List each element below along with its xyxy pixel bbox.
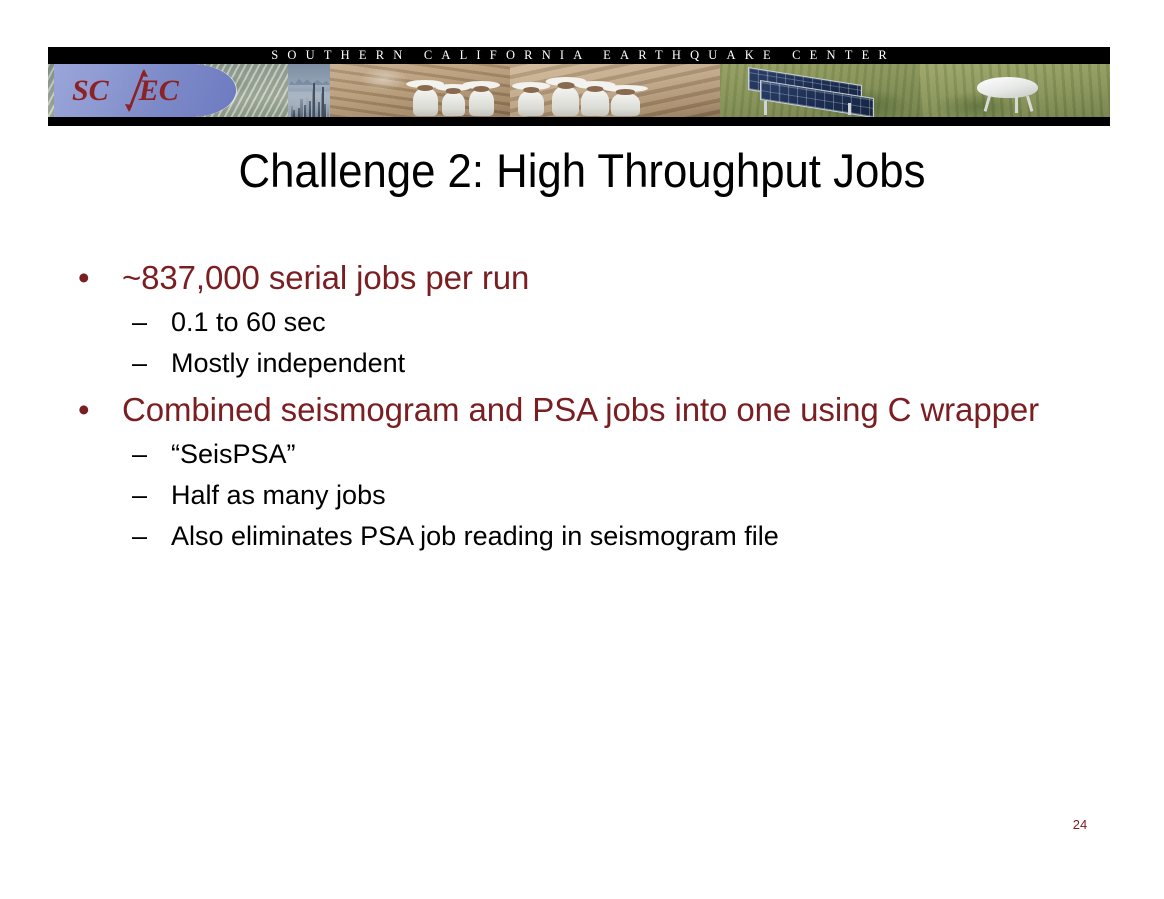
- page-number: 24: [1060, 818, 1100, 831]
- bullet-marker: –: [132, 347, 158, 380]
- bullet-level2: – Mostly independent: [0, 347, 1164, 380]
- bullet-marker: –: [132, 306, 158, 339]
- banner-title-bar: SOUTHERN CALIFORNIA EARTHQUAKE CENTER: [48, 47, 1110, 64]
- bullet-text: “SeisPSA”: [171, 439, 296, 469]
- field-researchers-photo: [330, 64, 510, 117]
- page-title: Challenge 2: High Throughput Jobs: [97, 146, 1068, 196]
- bullet-text: Combined seismogram and PSA jobs into on…: [122, 391, 1039, 428]
- bullet-marker: –: [132, 438, 158, 471]
- bullet-level1: • ~837,000 serial jobs per run: [0, 258, 1164, 298]
- los-angeles-skyline-photo: [288, 64, 330, 117]
- bullet-level2: – Half as many jobs: [0, 479, 1164, 512]
- bullet-level2: – Also eliminates PSA job reading in sei…: [0, 520, 1164, 553]
- scec-banner: SOUTHERN CALIFORNIA EARTHQUAKE CENTER: [48, 47, 1110, 126]
- slide-body: • ~837,000 serial jobs per run – 0.1 to …: [0, 258, 1164, 555]
- solar-panel-station-photo: [720, 64, 920, 117]
- bullet-marker: –: [132, 479, 158, 512]
- bullet-level2: – 0.1 to 60 sec: [0, 306, 1164, 339]
- scec-logo-text: SC EC: [72, 76, 179, 106]
- bullet-marker: –: [132, 520, 158, 553]
- bullet-text: Mostly independent: [171, 348, 405, 378]
- bullet-text: Half as many jobs: [171, 480, 386, 510]
- bullet-marker: •: [78, 258, 98, 298]
- gps-dome-antenna-photo: [920, 64, 1110, 117]
- banner-bottom-bar: [48, 117, 1110, 126]
- trench-team-photo: [510, 64, 720, 117]
- scec-logo: SC EC: [54, 64, 236, 117]
- scec-logo-ec: EC: [139, 74, 179, 107]
- bullet-text: 0.1 to 60 sec: [171, 307, 326, 337]
- slide-canvas: SOUTHERN CALIFORNIA EARTHQUAKE CENTER: [0, 0, 1164, 899]
- banner-title-text: SOUTHERN CALIFORNIA EARTHQUAKE CENTER: [262, 49, 896, 62]
- bullet-level2: – “SeisPSA”: [0, 438, 1164, 471]
- scec-logo-sc: SC: [72, 74, 109, 107]
- bullet-text: ~837,000 serial jobs per run: [122, 259, 529, 296]
- bullet-marker: •: [78, 390, 98, 430]
- bullet-text: Also eliminates PSA job reading in seism…: [171, 521, 779, 551]
- bullet-level1: • Combined seismogram and PSA jobs into …: [0, 390, 1164, 430]
